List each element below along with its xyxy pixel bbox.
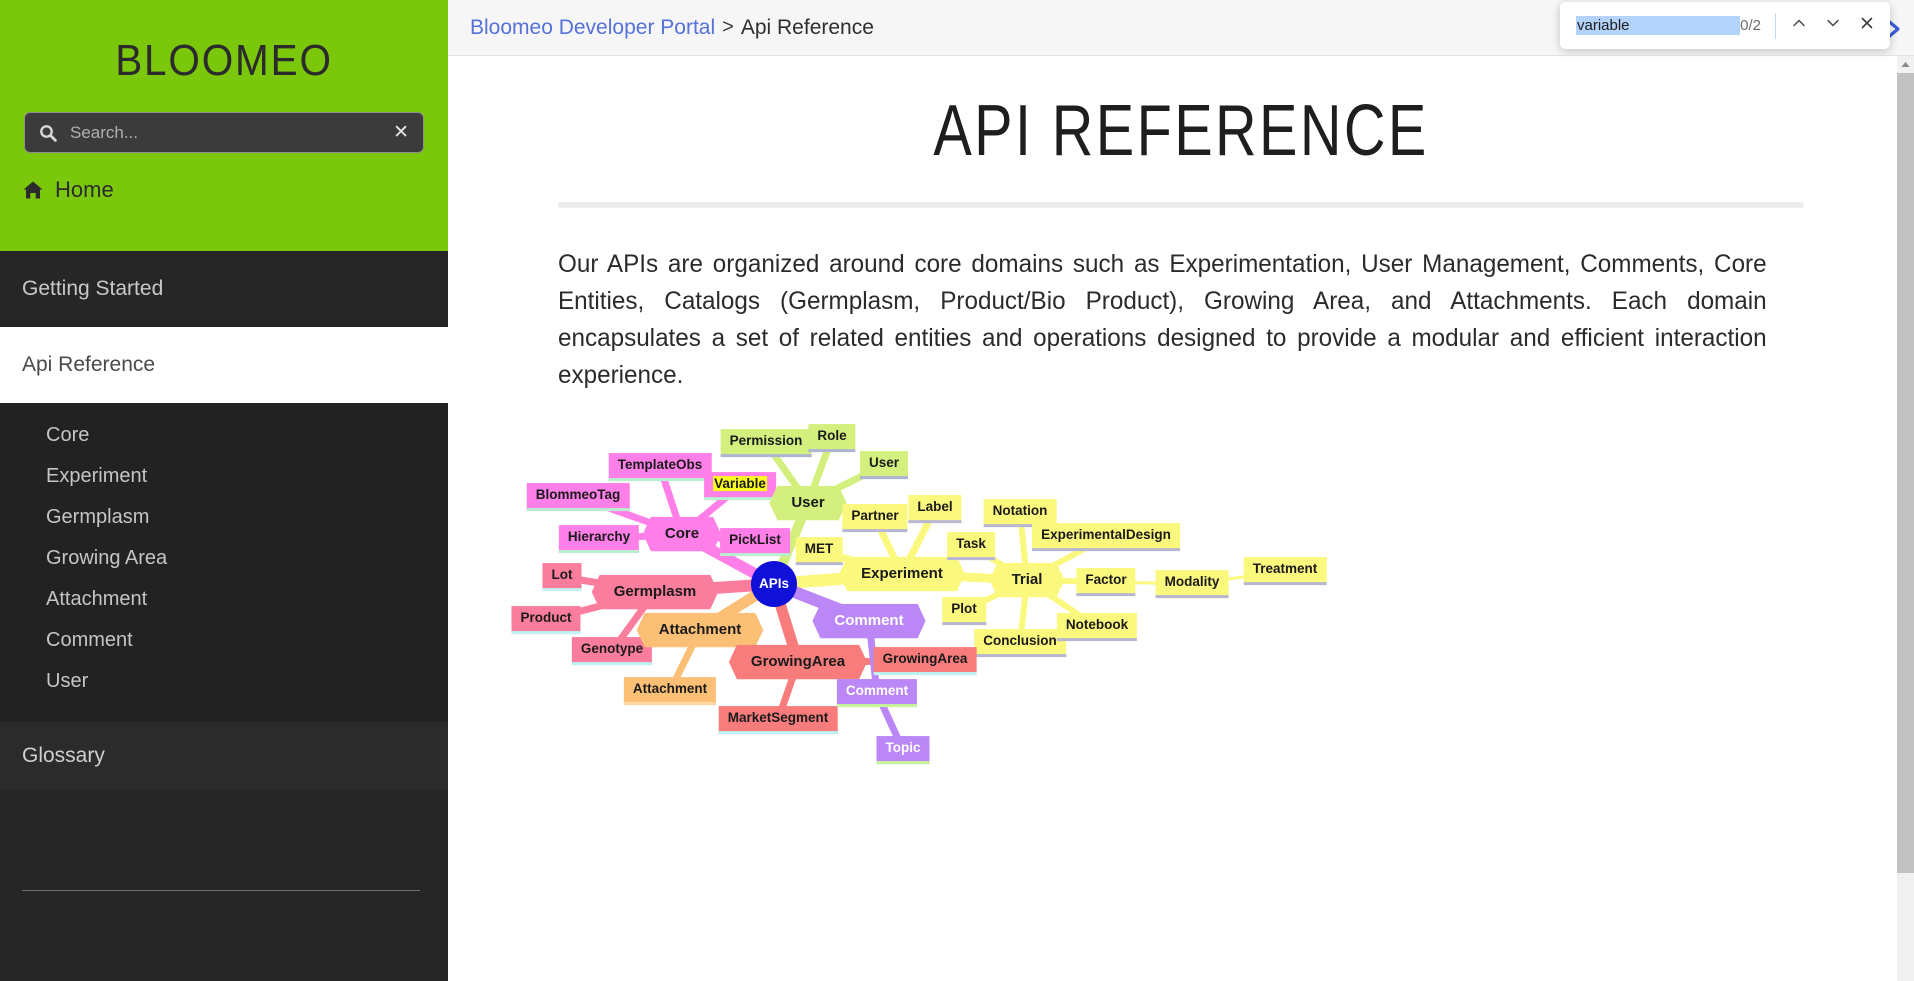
search-icon (39, 124, 57, 142)
mindmap-node-comment-hub: Comment (812, 604, 925, 639)
intro-paragraph: Our APIs are organized around core domai… (558, 246, 1767, 394)
mindmap-node-user-leaf: User (860, 451, 908, 479)
sidebar-item-attachment-label: Attachment (46, 588, 147, 610)
mindmap-node-met: MET (796, 537, 843, 565)
main-content: Bloomeo Developer Portal > Api Reference… (448, 0, 1914, 981)
find-divider (1775, 13, 1776, 39)
mindmap-node-marketsegment: MarketSegment (719, 706, 838, 734)
sidebar-item-growing-area[interactable]: Growing Area (0, 538, 448, 579)
search-input[interactable] (68, 122, 385, 144)
sidebar-item-core[interactable]: Core (0, 415, 448, 456)
sidebar-item-growing-area-label: Growing Area (46, 547, 167, 569)
close-icon[interactable]: ✕ (385, 123, 409, 142)
breadcrumb-separator: > (722, 16, 734, 39)
mindmap-node-genotype: Genotype (572, 637, 652, 665)
breadcrumb-link-portal[interactable]: Bloomeo Developer Portal (470, 16, 715, 40)
mindmap-node-attachment-leaf: Attachment (624, 677, 716, 705)
mindmap-node-plot: Plot (942, 597, 986, 625)
sidebar-section-api-reference-label: Api Reference (22, 353, 155, 376)
mindmap-node-picklist: PickList (720, 528, 790, 556)
mindmap-node-attachment-hub: Attachment (637, 613, 764, 648)
search-box[interactable]: ✕ (24, 112, 424, 153)
mindmap-node-growingarea-leaf: GrowingArea (874, 647, 977, 675)
sidebar-item-user[interactable]: User (0, 661, 448, 702)
sidebar-item-experiment[interactable]: Experiment (0, 456, 448, 497)
mindmap-node-core: Core (643, 517, 721, 552)
search-highlight: Variable (713, 476, 767, 491)
mindmap-node-trial: Trial (990, 563, 1065, 598)
mindmap-node-lot: Lot (543, 563, 582, 591)
home-icon (22, 180, 44, 200)
title-divider (558, 202, 1804, 208)
mindmap-node-treatment: Treatment (1244, 557, 1327, 585)
sidebar: BLOOMEO ✕ Home (0, 0, 448, 981)
mindmap-node-partner: Partner (842, 504, 907, 532)
mindmap-node-templateobs: TemplateObs (609, 453, 712, 481)
sidebar-item-comment[interactable]: Comment (0, 620, 448, 661)
mindmap-node-blommeotag: BlommeoTag (527, 483, 630, 511)
mindmap-node-permission: Permission (721, 429, 812, 457)
sidebar-section-api-reference[interactable]: Api Reference (0, 327, 448, 403)
mindmap-node-product: Product (511, 606, 580, 634)
mindmap-node-task: Task (947, 532, 995, 560)
mindmap-node-factor: Factor (1076, 568, 1135, 596)
sidebar-section-getting-started[interactable]: Getting Started (0, 251, 448, 327)
mindmap-node-germplasm: Germplasm (592, 575, 719, 610)
find-match-count: 0/2 (1740, 17, 1761, 34)
mindmap-node-comment-leaf: Comment (837, 679, 917, 707)
sidebar-item-experiment-label: Experiment (46, 465, 147, 487)
brand-title: BLOOMEO (18, 36, 430, 86)
sidebar-item-attachment[interactable]: Attachment (0, 579, 448, 620)
sidebar-brand-block: BLOOMEO ✕ Home (0, 0, 448, 251)
sidebar-section-glossary[interactable]: Glossary (0, 722, 448, 790)
mindmap-node-hierarchy: Hierarchy (559, 525, 639, 553)
sidebar-sub-list: Core Experiment Germplasm Growing Area A… (0, 403, 448, 722)
mindmap-node-variable: Variable (704, 472, 776, 500)
sidebar-section-glossary-label: Glossary (22, 744, 105, 767)
mindmap-node-apis: APIs (751, 561, 797, 607)
mindmap-node-modality: Modality (1156, 570, 1229, 598)
find-bar[interactable]: variable 0/2 (1560, 2, 1890, 49)
mindmap-node-topic: Topic (877, 736, 930, 764)
breadcrumb-current: Api Reference (741, 16, 874, 40)
find-query-text[interactable]: variable (1576, 16, 1740, 35)
close-icon[interactable] (1850, 15, 1884, 36)
chevron-down-icon[interactable] (1816, 15, 1850, 36)
app-root: BLOOMEO ✕ Home (0, 0, 1914, 981)
vertical-scrollbar[interactable] (1897, 56, 1914, 981)
api-domain-mindmap: APIsCoreTemplateObsBlommeoTagHierarchyVa… (502, 416, 1860, 836)
sidebar-item-germplasm-label: Germplasm (46, 506, 149, 528)
scrollbar-thumb[interactable] (1897, 73, 1914, 873)
mindmap-node-growingarea-hub: GrowingArea (729, 645, 867, 680)
sidebar-divider (22, 890, 420, 891)
sidebar-item-germplasm[interactable]: Germplasm (0, 497, 448, 538)
mindmap-node-conclusion: Conclusion (974, 629, 1066, 657)
mindmap-node-expdesign: ExperimentalDesign (1032, 523, 1180, 551)
document-body: API REFERENCE Our APIs are organized aro… (448, 56, 1914, 981)
scrollbar-up-arrow[interactable] (1897, 56, 1914, 73)
sidebar-section-getting-started-label: Getting Started (22, 277, 163, 300)
mindmap-node-label: Label (908, 495, 961, 523)
sidebar-item-comment-label: Comment (46, 629, 133, 651)
sidebar-item-home[interactable]: Home (0, 153, 448, 203)
mindmap-node-experiment: Experiment (839, 557, 965, 592)
mindmap-node-role: Role (808, 424, 855, 452)
sidebar-item-user-label: User (46, 670, 88, 692)
mindmap-node-user: User (769, 486, 846, 521)
mindmap-node-notebook: Notebook (1057, 613, 1137, 641)
chevron-up-icon[interactable] (1782, 15, 1816, 36)
page-title: API REFERENCE (638, 90, 1724, 172)
sidebar-item-core-label: Core (46, 424, 89, 446)
sidebar-item-home-label: Home (55, 177, 114, 203)
